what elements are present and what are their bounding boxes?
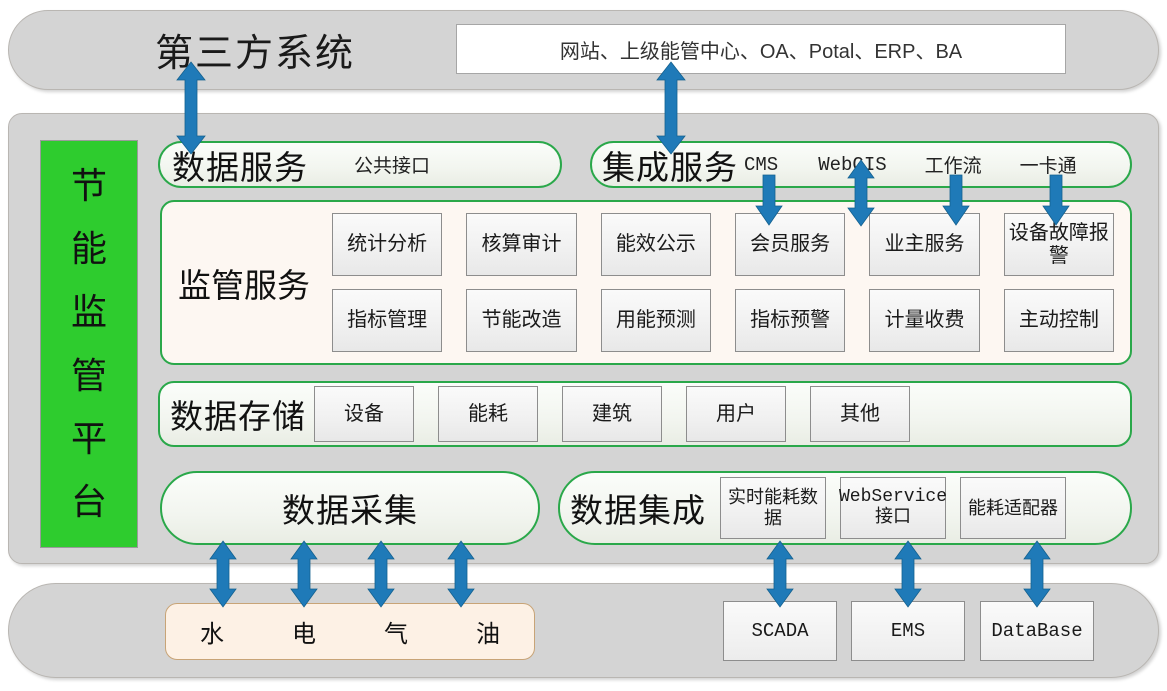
supervision-item[interactable]: 统计分析 bbox=[332, 213, 442, 276]
storage-item[interactable]: 设备 bbox=[314, 386, 414, 442]
supervision-item[interactable]: 主动控制 bbox=[1004, 289, 1114, 352]
system-database[interactable]: DataBase bbox=[980, 601, 1094, 661]
diagram-canvas: 第三方系统 网站、上级能管中心、OA、Potal、ERP、BA 节 能 监 管 … bbox=[0, 0, 1167, 691]
supervision-service-label: 监管服务 bbox=[178, 259, 328, 307]
platform-char-2: 监 bbox=[71, 294, 107, 330]
utility-water: 水 bbox=[200, 614, 224, 649]
data-storage-items: 设备 能耗 建筑 用户 其他 bbox=[314, 386, 910, 442]
data-integration-bar: 数据集成 实时能耗数据 WebService接口 能耗适配器 bbox=[558, 471, 1132, 545]
storage-item[interactable]: 建筑 bbox=[562, 386, 662, 442]
supervision-item[interactable]: 计量收费 bbox=[869, 289, 979, 352]
platform-char-4: 平 bbox=[71, 421, 107, 457]
integration-tag-cms: CMS bbox=[744, 154, 778, 176]
data-integration-label: 数据集成 bbox=[570, 484, 706, 532]
system-ems[interactable]: EMS bbox=[851, 601, 965, 661]
arrow-onecard-fault-alarm bbox=[1042, 175, 1070, 225]
supervision-item[interactable]: 用能预测 bbox=[601, 289, 711, 352]
supervision-item[interactable]: 指标管理 bbox=[332, 289, 442, 352]
integration-tag-workflow: 工作流 bbox=[925, 151, 982, 178]
integration-item[interactable]: WebService接口 bbox=[840, 477, 946, 539]
supervision-service-panel: 监管服务 统计分析 核算审计 能效公示 会员服务 业主服务 设备故障报警 指标管… bbox=[160, 200, 1132, 365]
utility-electricity: 电 bbox=[292, 614, 316, 649]
storage-item[interactable]: 用户 bbox=[686, 386, 786, 442]
utility-gas: 气 bbox=[384, 614, 408, 649]
arrow-adapter-database bbox=[1023, 541, 1051, 607]
platform-char-5: 台 bbox=[71, 484, 107, 520]
storage-item[interactable]: 能耗 bbox=[438, 386, 538, 442]
integration-tag-onecard: 一卡通 bbox=[1020, 151, 1077, 178]
integration-item[interactable]: 实时能耗数据 bbox=[720, 477, 826, 539]
arrow-workflow-supervision bbox=[942, 175, 970, 225]
data-service-sublabel: 公共接口 bbox=[354, 151, 430, 178]
arrow-systems-integration bbox=[656, 62, 686, 154]
arrow-collection-water bbox=[209, 541, 237, 607]
platform-char-3: 管 bbox=[71, 358, 107, 394]
utility-oil: 油 bbox=[476, 614, 500, 649]
storage-item[interactable]: 其他 bbox=[810, 386, 910, 442]
data-collection-bar[interactable]: 数据采集 bbox=[160, 471, 540, 545]
data-storage-bar: 数据存储 设备 能耗 建筑 用户 其他 bbox=[158, 381, 1132, 447]
supervision-item[interactable]: 能效公示 bbox=[601, 213, 711, 276]
data-integration-items: 实时能耗数据 WebService接口 能耗适配器 bbox=[720, 477, 1066, 539]
arrow-realtime-scada bbox=[766, 541, 794, 607]
data-collection-label: 数据采集 bbox=[282, 484, 418, 532]
supervision-item[interactable]: 核算审计 bbox=[466, 213, 576, 276]
platform-title-vertical: 节 能 监 管 平 台 bbox=[40, 140, 138, 548]
supervision-item[interactable]: 指标预警 bbox=[735, 289, 845, 352]
arrow-collection-electricity bbox=[290, 541, 318, 607]
platform-char-1: 能 bbox=[71, 231, 107, 267]
data-service-bar[interactable]: 数据服务 公共接口 bbox=[158, 141, 562, 188]
platform-char-0: 节 bbox=[71, 168, 107, 204]
data-storage-label: 数据存储 bbox=[170, 390, 306, 438]
third-party-systems-box: 网站、上级能管中心、OA、Potal、ERP、BA bbox=[456, 24, 1066, 74]
utilities-box: 水 电 气 油 bbox=[165, 603, 535, 660]
integration-item[interactable]: 能耗适配器 bbox=[960, 477, 1066, 539]
arrow-cms-member-service bbox=[755, 175, 783, 225]
supervision-item[interactable]: 节能改造 bbox=[466, 289, 576, 352]
arrow-thirdparty-dataservice bbox=[176, 62, 206, 154]
arrow-collection-gas bbox=[367, 541, 395, 607]
arrow-collection-oil bbox=[447, 541, 475, 607]
third-party-title: 第三方系统 bbox=[95, 24, 415, 74]
system-scada[interactable]: SCADA bbox=[723, 601, 837, 661]
supervision-item[interactable]: 会员服务 bbox=[735, 213, 845, 276]
supervision-items-grid: 统计分析 核算审计 能效公示 会员服务 业主服务 设备故障报警 指标管理 节能改… bbox=[332, 213, 1114, 352]
arrow-webservice-ems bbox=[894, 541, 922, 607]
arrow-webgis-owner-service bbox=[847, 160, 875, 226]
